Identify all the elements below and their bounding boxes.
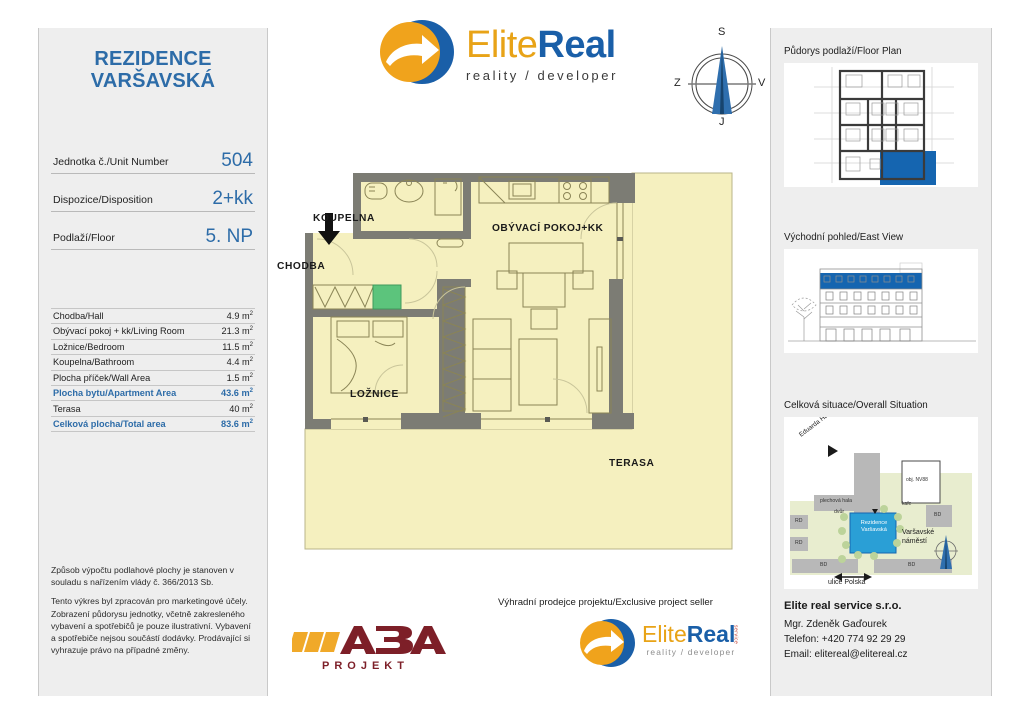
compass-rose: S J Z V <box>678 28 766 132</box>
contact-info: Elite real service s.r.o. Mgr. Zdeněk Ga… <box>784 598 981 662</box>
apartment-floor-plan: KOUPELNA CHODBA OBÝVACÍ POKOJ+KK LOŽNICE… <box>287 161 742 561</box>
contact-phone: Telefon: +420 774 92 29 29 <box>784 632 981 647</box>
situation-label-hall: plechová hala <box>820 498 852 504</box>
unit-info-label: Podlaží/Floor <box>53 232 115 246</box>
logo-tagline: reality / developer <box>466 68 618 83</box>
situation-section: Celková situace/Overall Situation <box>771 400 991 589</box>
unit-info-list: Jednotka č./Unit Number 504 Dispozice/Di… <box>51 145 255 250</box>
area-label: Plocha bytu/Apartment Area <box>53 388 176 398</box>
right-info-panel: Půdorys podlaží/Floor Plan <box>770 28 992 696</box>
unit-info-value: 5. NP <box>205 227 253 246</box>
room-label-koupelna: KOUPELNA <box>313 213 375 224</box>
aba-projekt-logo: PROJEKT <box>292 620 452 678</box>
situation-label-street-bottom: ulice Polská <box>828 579 865 586</box>
unit-info-row: Dispozice/Disposition 2+kk <box>51 183 255 212</box>
unit-info-value: 2+kk <box>212 189 253 208</box>
situation-map-drawing <box>784 417 978 589</box>
floor-plan-thumbnail-drawing <box>784 63 978 187</box>
table-row: Chodba/Hall 4.9 m2 <box>51 308 255 324</box>
unit-info-row: Podlaží/Floor 5. NP <box>51 221 255 250</box>
disclaimer-paragraph-1: Způsob výpočtu podlahové plochy je stano… <box>51 564 255 588</box>
compass-label-north: S <box>718 26 725 38</box>
situation-label-bd3: BD <box>908 562 915 568</box>
compass-label-south: J <box>719 116 725 128</box>
situation-label-cafe: kafe <box>902 501 911 507</box>
contact-company: Elite real service s.r.o. <box>784 598 981 615</box>
situation-label-bd1: BD <box>934 512 941 518</box>
floor-plan-section: Půdorys podlaží/Floor Plan <box>771 46 991 187</box>
logo-wordmark: EliteReal <box>466 26 618 64</box>
project-title-line1: REZIDENCE <box>39 48 267 70</box>
area-label: Koupelna/Bathroom <box>53 357 134 367</box>
area-label: Celková plocha/Total area <box>53 419 166 429</box>
left-info-panel: REZIDENCE VARŠAVSKÁ Jednotka č./Unit Num… <box>38 28 268 696</box>
room-label-loznice: LOŽNICE <box>350 389 399 400</box>
area-label: Plocha příček/Wall Area <box>53 373 150 383</box>
table-row: Plocha příček/Wall Area 1.5 m2 <box>51 371 255 386</box>
situation-thumbnail[interactable]: Eduarda Hamburgera Rezidence Varšavská V… <box>784 417 978 589</box>
project-title-line2: VARŠAVSKÁ <box>39 70 267 92</box>
unit-info-label: Dispozice/Disposition <box>53 194 153 208</box>
area-value: 43.6 m2 <box>221 388 253 398</box>
area-value: 4.4 m2 <box>227 357 253 367</box>
disclaimer-text: Způsob výpočtu podlahové plochy je stano… <box>51 564 255 663</box>
table-row: Terasa 40 m2 <box>51 401 255 416</box>
area-label: Ložnice/Bedroom <box>53 342 125 352</box>
contact-email: Email: elitereal@elitereal.cz <box>784 647 981 662</box>
table-row: Ložnice/Bedroom 11.5 m2 <box>51 340 255 355</box>
area-value: 40 m2 <box>229 404 253 414</box>
contact-person: Mgr. Zdeněk Gaďourek <box>784 617 981 632</box>
situation-label-rd1: RD <box>795 518 803 524</box>
area-value: 1.5 m2 <box>227 373 253 383</box>
seller-caption: Výhradní prodejce projektu/Exclusive pro… <box>498 597 713 608</box>
elitereal-logo-text: EliteReal reality / developer <box>466 26 618 83</box>
room-label-terasa: TERASA <box>609 458 654 469</box>
seller-logo-text: EliteRealservice reality / developer <box>642 623 735 657</box>
unit-info-label: Jednotka č./Unit Number <box>53 156 169 170</box>
table-row-total-area: Celková plocha/Total area 83.6 m2 <box>51 417 255 432</box>
situation-label-rd2: RD <box>795 540 803 546</box>
unit-info-value: 504 <box>221 151 253 170</box>
project-title-block: REZIDENCE VARŠAVSKÁ <box>39 28 267 93</box>
situation-label-obj: obj. NV88 <box>906 477 928 483</box>
table-row: Koupelna/Bathroom 4.4 m2 <box>51 355 255 370</box>
floor-plan-thumbnail[interactable] <box>784 63 978 187</box>
logo-word-real: Real <box>537 24 615 66</box>
aba-projekt-mark <box>292 620 452 662</box>
seller-logo-tagline: reality / developer <box>642 647 735 657</box>
aba-projekt-subtitle: PROJEKT <box>322 660 409 672</box>
logo-word-elite: Elite <box>466 24 537 66</box>
situation-heading: Celková situace/Overall Situation <box>784 400 991 411</box>
area-value: 11.5 m2 <box>222 342 253 352</box>
situation-label-bd2: BD <box>820 562 827 568</box>
compass-label-east: V <box>758 77 765 89</box>
unit-info-row: Jednotka č./Unit Number 504 <box>51 145 255 174</box>
disclaimer-paragraph-2: Tento výkres byl zpracován pro marketing… <box>51 595 255 656</box>
table-row-apartment-area: Plocha bytu/Apartment Area 43.6 m2 <box>51 386 255 401</box>
elitereal-logo-mark <box>378 14 456 90</box>
east-view-drawing <box>784 249 978 353</box>
area-value: 21.3 m2 <box>222 326 253 336</box>
area-label: Chodba/Hall <box>53 311 104 321</box>
elitereal-logo: EliteReal reality / developer <box>378 12 670 94</box>
area-label: Obývací pokoj + kk/Living Room <box>53 326 185 336</box>
situation-label-square: Varšavské náměstí <box>902 529 956 547</box>
seller-word-real: Real <box>687 621 736 647</box>
area-value: 4.9 m2 <box>227 311 253 321</box>
area-table: Chodba/Hall 4.9 m2 Obývací pokoj + kk/Li… <box>51 308 255 433</box>
seller-logo-wordmark: EliteRealservice <box>642 623 735 646</box>
room-label-chodba: CHODBA <box>277 261 325 272</box>
east-view-heading: Východní pohled/East View <box>784 232 991 243</box>
seller-elitereal-logo: EliteRealservice reality / developer <box>578 615 753 677</box>
room-label-obyvaci-pokoj: OBÝVACÍ POKOJ+KK <box>492 223 603 234</box>
seller-logo-tag: service <box>732 625 737 644</box>
east-view-thumbnail[interactable] <box>784 249 978 353</box>
situation-label-building: Rezidence Varšavská <box>852 520 896 534</box>
compass-label-west: Z <box>674 77 681 89</box>
area-label: Terasa <box>53 404 81 414</box>
table-row: Obývací pokoj + kk/Living Room 21.3 m2 <box>51 324 255 339</box>
seller-logo-mark <box>578 615 636 671</box>
situation-label-yard: dvůr <box>834 509 844 515</box>
floor-plan-heading: Půdorys podlaží/Floor Plan <box>784 46 991 57</box>
seller-word-elite: Elite <box>642 621 687 647</box>
east-view-section: Východní pohled/East View <box>771 232 991 353</box>
area-value: 83.6 m2 <box>221 419 253 429</box>
